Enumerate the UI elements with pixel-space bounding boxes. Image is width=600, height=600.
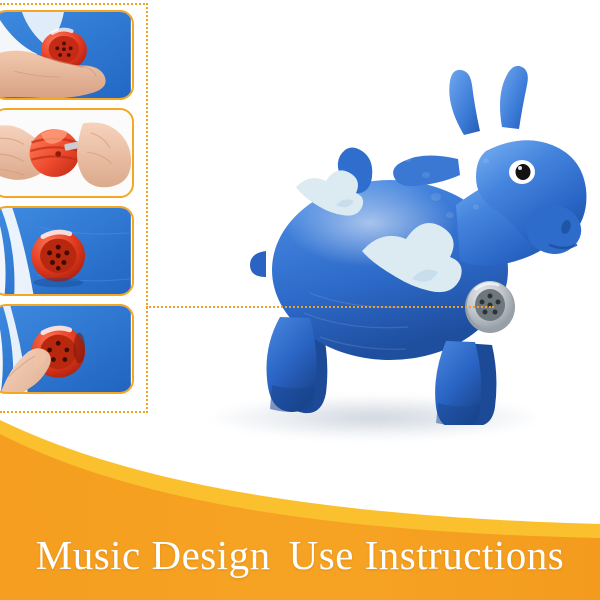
thumbnail-hands-holding-module[interactable] bbox=[0, 108, 134, 198]
product-photo-area bbox=[0, 0, 600, 470]
product-image-blue-goat-hopper bbox=[250, 55, 590, 425]
banner-text-wrap: Music Design Use Instructions bbox=[0, 420, 600, 600]
banner-title-music-design: Music Design bbox=[36, 535, 271, 576]
callout-dotted-line-top bbox=[0, 3, 148, 5]
callout-dotted-line-to-speaker bbox=[146, 306, 494, 308]
callout-dotted-line-bottom bbox=[0, 411, 148, 413]
bottom-title-banner: Music Design Use Instructions bbox=[0, 420, 600, 600]
infographic-stage: Music Design Use Instructions bbox=[0, 0, 600, 600]
callout-dotted-line-vertical bbox=[146, 3, 148, 413]
thumbnail-speaker-installed[interactable] bbox=[0, 206, 134, 296]
banner-title-use-instructions: Use Instructions bbox=[289, 535, 565, 576]
thumbnail-finger-pressing-button[interactable] bbox=[0, 304, 134, 394]
thumbnail-hand-gripping-speaker[interactable] bbox=[0, 10, 134, 100]
